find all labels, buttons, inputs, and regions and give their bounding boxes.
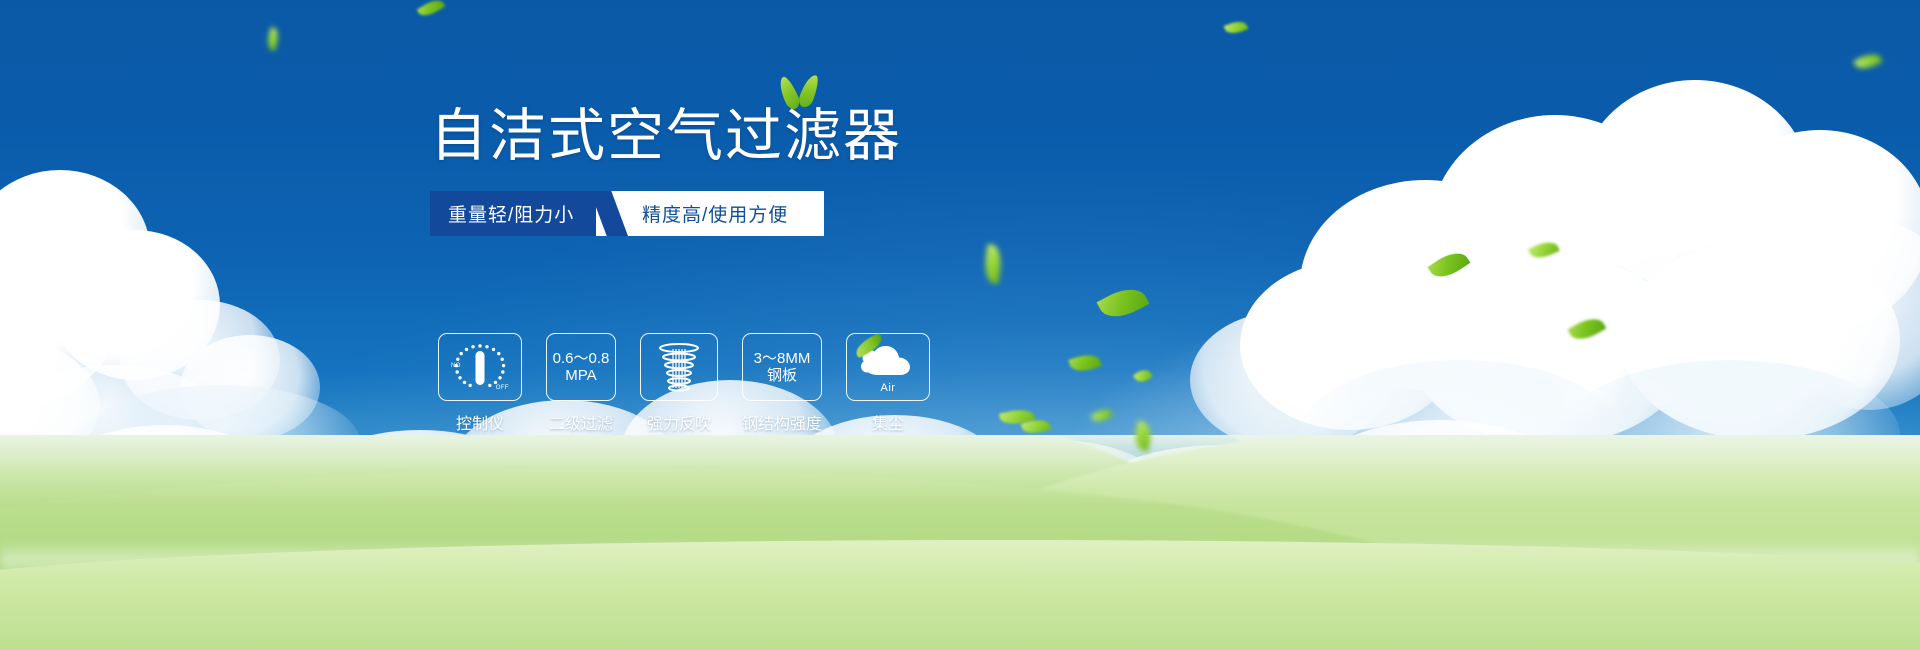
feature-label: 集尘 — [872, 410, 904, 434]
leaf-icon — [776, 75, 803, 112]
grass-haze — [0, 435, 1920, 505]
feature-label: 强力反吹 — [647, 410, 711, 434]
steel-line-2: 钢板 — [754, 367, 811, 384]
banner-stage: 自洁式空气过滤器 重量轻/阻力小 精度高/使用方便 — [0, 0, 1920, 650]
leaf-icon — [797, 73, 822, 110]
tagline-left: 重量轻/阻力小 — [430, 191, 596, 236]
pressure-text-icon: 0.6～0.8 MPA — [553, 350, 610, 385]
tagline-bar: 重量轻/阻力小 精度高/使用方便 — [430, 191, 824, 236]
air-label: Air — [858, 382, 918, 394]
feature-item-dust[interactable]: Air 集尘 — [846, 333, 930, 434]
pressure-line-1: 0.6～0.8 — [553, 350, 610, 367]
dial-on-label: NO — [451, 363, 461, 369]
feature-icon-box: 0.6～0.8 MPA — [546, 333, 616, 401]
page-title: 自洁式空气过滤器 — [430, 108, 1050, 165]
dial-off-label: OFF — [496, 385, 509, 391]
filter-coil-icon — [656, 341, 702, 393]
feature-label: 控制仪 — [456, 410, 504, 434]
steel-line-1: 3～8MM — [754, 350, 811, 367]
feature-item-backflush[interactable]: 强力反吹 — [640, 333, 718, 434]
tagline-right: 精度高/使用方便 — [596, 191, 824, 236]
banner-content: 自洁式空气过滤器 重量轻/阻力小 精度高/使用方便 — [430, 108, 1050, 236]
grass-field — [0, 435, 1920, 650]
feature-item-control[interactable]: NO OFF 控制仪 — [438, 333, 522, 434]
pressure-line-2: MPA — [553, 367, 610, 384]
feature-list: NO OFF 控制仪 0.6～0.8 MPA 二级过滤 — [438, 333, 930, 434]
feature-label: 二级过滤 — [549, 410, 613, 434]
feature-item-steel[interactable]: 3～8MM 钢板 钢结构强度 — [742, 333, 822, 434]
feature-icon-box: Air — [846, 333, 930, 401]
title-leaf-decoration — [772, 72, 832, 116]
steel-plate-text-icon: 3～8MM 钢板 — [754, 350, 811, 385]
feature-icon-box: NO OFF — [438, 333, 522, 401]
feature-label: 钢结构强度 — [742, 410, 822, 434]
feature-item-pressure[interactable]: 0.6～0.8 MPA 二级过滤 — [546, 333, 616, 434]
feature-icon-box: 3～8MM 钢板 — [742, 333, 822, 401]
control-dial-icon: NO OFF — [452, 341, 508, 393]
feature-icon-box — [640, 333, 718, 401]
hill-front — [0, 540, 1920, 650]
cloud-air-icon: Air — [858, 341, 918, 393]
